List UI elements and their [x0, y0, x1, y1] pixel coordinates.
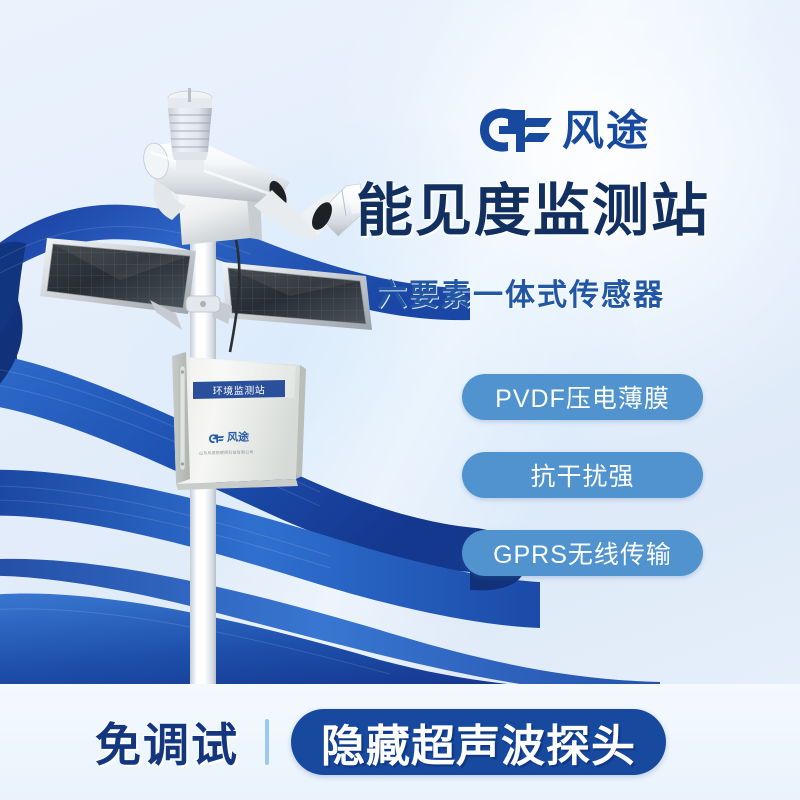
feature-pill-list: PVDF压电薄膜 抗干扰强 GPRS无线传输	[462, 374, 703, 576]
enclosure-label-band: 环境监测站	[193, 380, 285, 399]
footer-banner: 免调试 隐藏超声波探头	[0, 684, 800, 800]
solar-panel-left-group	[40, 238, 196, 330]
page-subtitle: 六要素一体式传感器	[356, 270, 686, 314]
feature-pill-label: PVDF压电薄膜	[495, 379, 670, 415]
brand-name-text: 风途	[562, 110, 650, 152]
footer-highlight-pill[interactable]: 隐藏超声波探头	[291, 709, 666, 775]
product-stage: 环境监测站 风途 山东风途物联网科技有限公司	[0, 0, 800, 684]
visibility-receiver-tube-group	[254, 184, 364, 240]
weather-station-product-image	[0, 0, 800, 684]
feature-pill-label: GPRS无线传输	[493, 535, 672, 571]
enclosure-label-text: 环境监测站	[213, 381, 266, 397]
feature-pill-anti-interference[interactable]: 抗干扰强	[462, 452, 703, 498]
feature-pill-pvdf[interactable]: PVDF压电薄膜	[462, 374, 703, 420]
product-poster: 环境监测站 风途 山东风途物联网科技有限公司 风途 能见度监测站 六要素一体式传…	[0, 0, 800, 800]
environment-monitoring-enclosure-group	[172, 352, 306, 490]
brand-lockup: 风途	[478, 106, 650, 156]
feature-pill-gprs[interactable]: GPRS无线传输	[462, 530, 703, 576]
radiation-shield-group	[168, 88, 212, 172]
enclosure-company-line: 山东风途物联网科技有限公司	[199, 449, 254, 456]
footer-highlight-label: 隐藏超声波探头	[321, 710, 636, 774]
enclosure-brand-name: 风途	[227, 433, 249, 444]
footer-lead-text: 免调试	[95, 709, 239, 775]
gf-monogram-logo-icon	[208, 433, 225, 444]
enclosure-brand-logo: 风途	[208, 433, 249, 445]
page-title: 能见度监测站	[356, 182, 686, 242]
gf-monogram-logo-icon	[478, 106, 552, 156]
feature-pill-label: 抗干扰强	[530, 457, 634, 493]
footer-divider	[265, 719, 269, 765]
